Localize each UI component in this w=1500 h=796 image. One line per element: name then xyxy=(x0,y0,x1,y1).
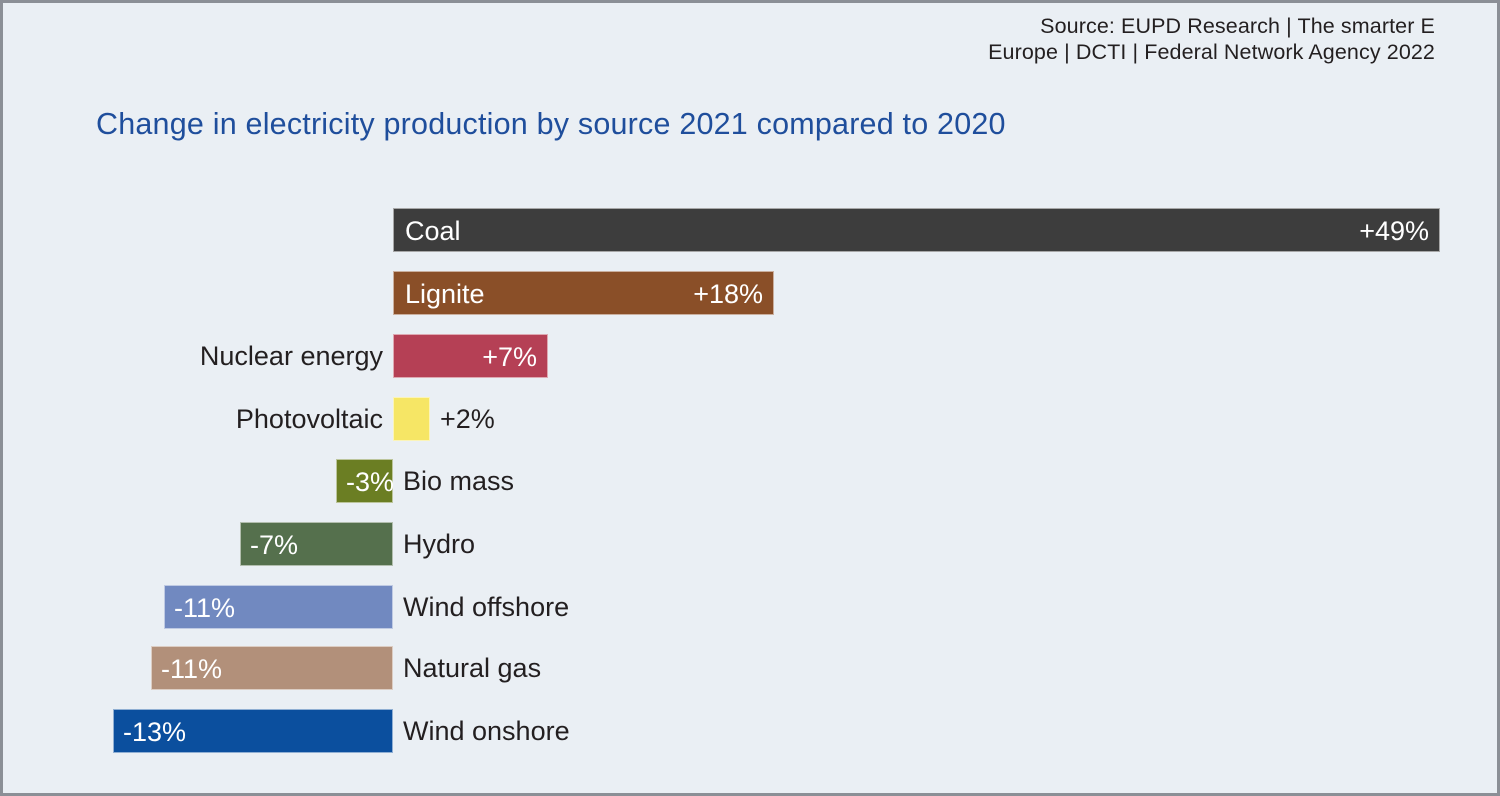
bar-row: -3%Bio mass xyxy=(3,459,1500,503)
chart-figure: Source: EUPD Research | The smarter E Eu… xyxy=(0,0,1500,796)
bar-coal[interactable]: +49%Coal xyxy=(393,208,1440,252)
bar-row: -11%Natural gas xyxy=(3,646,1500,690)
bar-value-label: -11% xyxy=(161,647,222,691)
bar-value-label: -11% xyxy=(174,586,235,630)
bar-category-label: Hydro xyxy=(403,522,475,566)
bar-row: +2%Photovoltaic xyxy=(3,397,1500,441)
bar-category-label: Photovoltaic xyxy=(236,397,383,441)
bar-hydro[interactable]: -7% xyxy=(240,522,393,566)
bar-photovoltaic[interactable] xyxy=(393,397,430,441)
bar-row: -13%Wind onshore xyxy=(3,709,1500,753)
bar-row: -11%Wind offshore xyxy=(3,585,1500,629)
bar-wind-offshore[interactable]: -11% xyxy=(164,585,393,629)
bar-category-label: Natural gas xyxy=(403,646,541,690)
bar-value-label: +18% xyxy=(693,272,763,316)
bar-chart-plot: +49%Coal+18%Lignite+7%Nuclear energy+2%P… xyxy=(3,3,1500,796)
bar-bio-mass[interactable]: -3% xyxy=(336,459,393,503)
bar-value-label: -3% xyxy=(346,460,394,504)
bar-value-label: -7% xyxy=(250,523,298,567)
bar-category-label: Lignite xyxy=(405,272,485,316)
bar-row: +18%Lignite xyxy=(3,271,1500,315)
bar-row: +7%Nuclear energy xyxy=(3,334,1500,378)
bar-row: -7%Hydro xyxy=(3,522,1500,566)
bar-row: +49%Coal xyxy=(3,208,1500,252)
bar-nuclear-energy[interactable]: +7% xyxy=(393,334,548,378)
bar-lignite[interactable]: +18%Lignite xyxy=(393,271,774,315)
bar-value-label: +2% xyxy=(440,397,495,441)
bar-wind-onshore[interactable]: -13% xyxy=(113,709,393,753)
bar-natural-gas[interactable]: -11% xyxy=(151,646,393,690)
bar-category-label: Nuclear energy xyxy=(200,334,383,378)
bar-value-label: +7% xyxy=(482,335,537,379)
bar-value-label: -13% xyxy=(123,710,186,754)
bar-category-label: Bio mass xyxy=(403,459,514,503)
bar-category-label: Wind offshore xyxy=(403,585,569,629)
bar-value-label: +49% xyxy=(1359,209,1429,253)
bar-category-label: Wind onshore xyxy=(403,709,570,753)
bar-category-label: Coal xyxy=(405,209,461,253)
